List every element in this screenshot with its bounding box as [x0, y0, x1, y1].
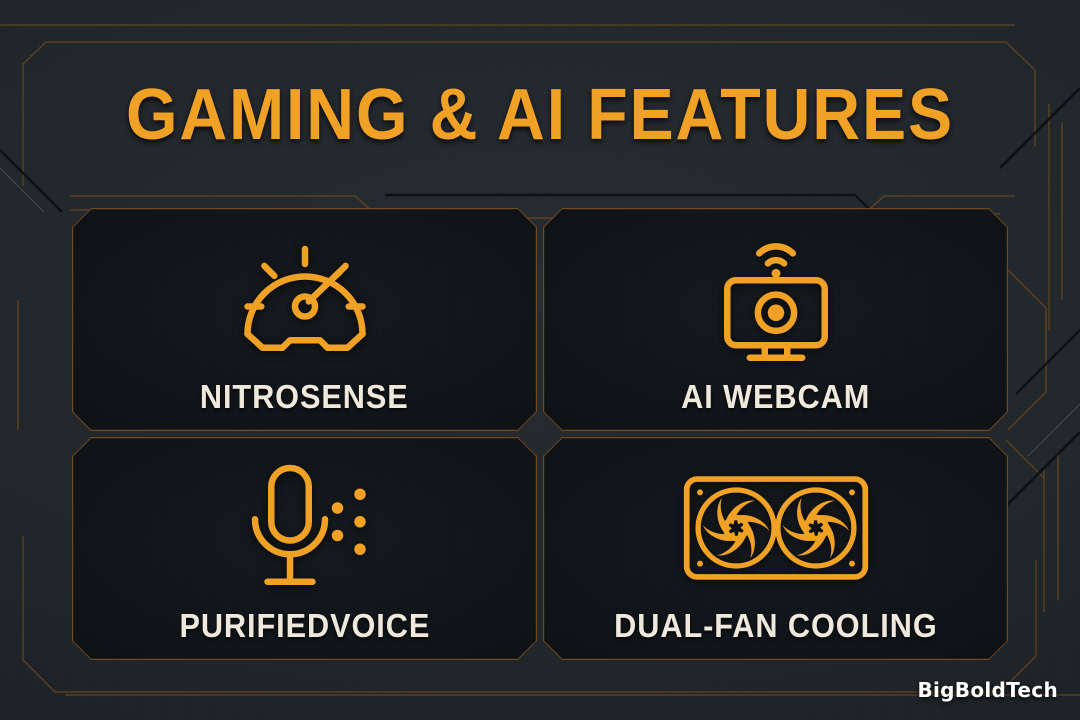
feature-label: NITROSENSE [200, 378, 409, 416]
feature-card-nitrosense[interactable]: NITROSENSE [72, 208, 537, 431]
feature-grid: NITROSENSE [72, 208, 1008, 660]
feature-label: AI WEBCAM [681, 378, 870, 416]
webcam-wifi-icon [701, 224, 851, 374]
page-title: GAMING & AI FEATURES [43, 74, 1037, 156]
dual-fan-icon [681, 453, 871, 603]
feature-label: PURIFIEDVOICE [179, 607, 430, 645]
feature-label: DUAL-FAN COOLING [614, 607, 937, 645]
feature-card-purifiedvoice[interactable]: PURIFIEDVOICE [72, 437, 537, 660]
feature-card-ai-webcam[interactable]: AI WEBCAM [543, 208, 1008, 431]
feature-slide: GAMING & AI FEATURES [0, 0, 1080, 720]
microphone-icon [230, 453, 380, 603]
speedometer-icon [230, 224, 380, 374]
watermark-bigboldtech: BigBoldTech [917, 678, 1058, 702]
feature-card-dual-fan-cooling[interactable]: DUAL-FAN COOLING [543, 437, 1008, 660]
